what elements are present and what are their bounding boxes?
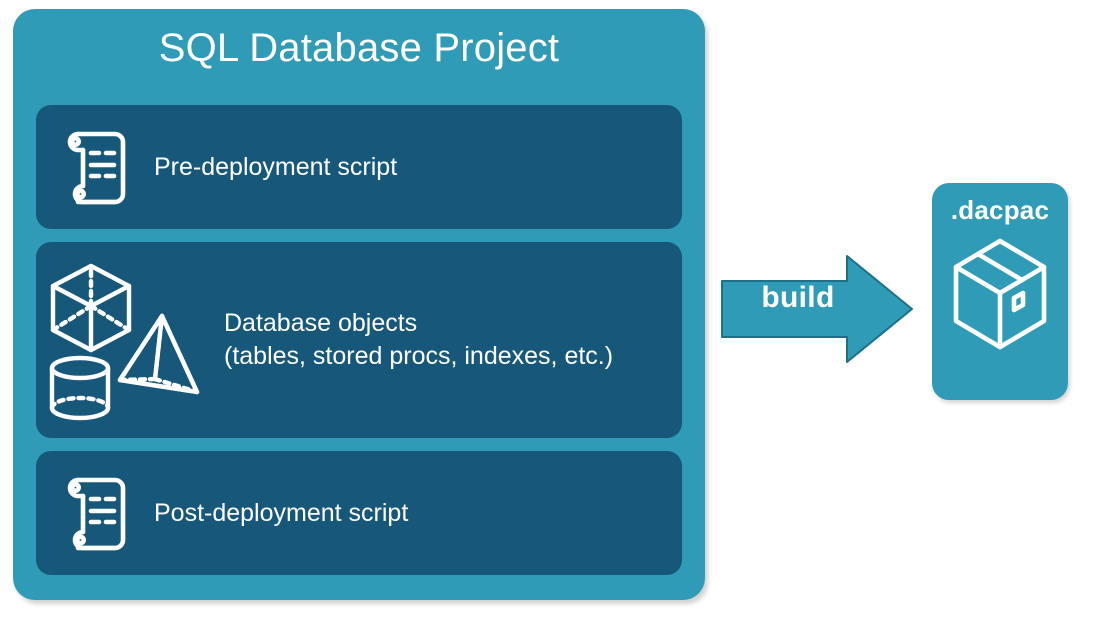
card-post-deployment-script: Post-deployment script	[36, 451, 682, 575]
card-label-pre-deployment: Pre-deployment script	[154, 151, 397, 184]
card-label-database-objects: Database objects (tables, stored procs, …	[224, 307, 613, 373]
sql-database-project-container: SQL Database Project Pre-d	[13, 9, 705, 600]
shapes-3d-icon	[36, 250, 214, 430]
dacpac-label: .dacpac	[932, 195, 1068, 226]
card-label-post-deployment: Post-deployment script	[154, 497, 408, 530]
card-pre-deployment-script: Pre-deployment script	[36, 105, 682, 229]
dacpac-output-card: .dacpac	[932, 183, 1068, 400]
page-title: SQL Database Project	[13, 26, 705, 70]
package-box-icon	[950, 235, 1050, 375]
arrow-right-icon	[719, 253, 915, 365]
scroll-icon	[36, 117, 154, 217]
scroll-icon	[36, 463, 154, 563]
card-database-objects: Database objects (tables, stored procs, …	[36, 242, 682, 438]
